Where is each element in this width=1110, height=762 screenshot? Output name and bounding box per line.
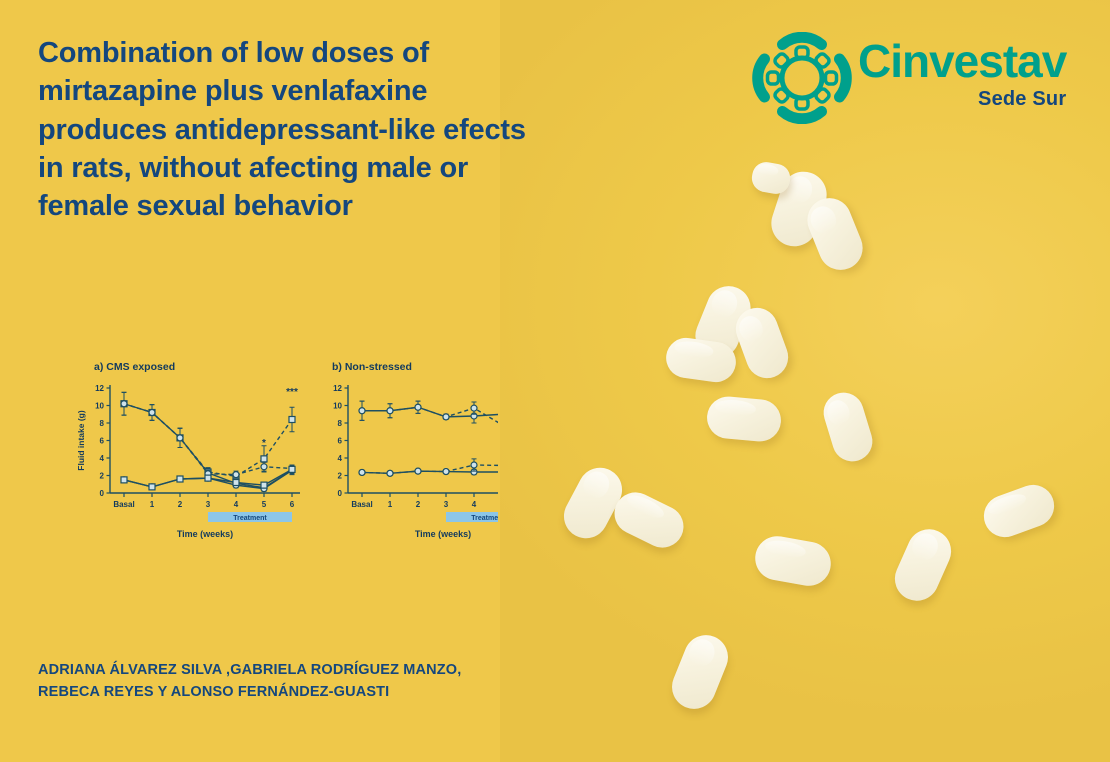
data-point [261, 464, 267, 470]
title-line-3: produces antidepressant-like efects [38, 111, 678, 149]
chart-label: 4 [100, 454, 105, 463]
data-point [261, 456, 267, 462]
chart-label: Treatment [471, 515, 498, 522]
chart-label: Basal [351, 500, 372, 509]
data-point [415, 404, 421, 410]
author-line-2: REBECA REYES Y ALONSO FERNÁNDEZ-GUASTI [38, 682, 578, 704]
page-title: Combination of low doses of mirtazapine … [38, 34, 678, 225]
chart-label: a) CMS exposed [94, 361, 175, 373]
chart-label: 6 [338, 437, 343, 446]
series-line [362, 471, 498, 473]
chart-label: 6 [100, 437, 105, 446]
title-line-1: Combination of low doses of [38, 34, 678, 72]
data-point [359, 469, 365, 475]
cinvestav-emblem-icon [752, 32, 852, 124]
title-line-4: in rats, without afecting male or [38, 149, 678, 187]
pill-tablet [978, 479, 1060, 543]
logo-subtitle: Sede Sur [858, 88, 1066, 111]
poster-canvas: Combination of low doses of mirtazapine … [0, 0, 1110, 762]
chart-label: *** [286, 387, 298, 398]
chart-label: 1 [150, 500, 155, 509]
chart-label: 2 [178, 500, 183, 509]
chart-label: 10 [95, 402, 104, 411]
data-point [177, 435, 183, 441]
chart-label: 8 [100, 419, 105, 428]
pill-tablet [665, 629, 734, 716]
title-line-5: female sexual behavior [38, 187, 678, 225]
chart-label: * [262, 438, 266, 449]
chart-label: 3 [444, 500, 449, 509]
chart-label: 6 [290, 500, 295, 509]
data-point [359, 408, 365, 414]
data-point [149, 410, 155, 416]
data-point [261, 482, 267, 488]
figure-svg: a) CMS exposed024681012Fluid intake (g)B… [48, 348, 498, 548]
logo-name: Cinvestav [858, 38, 1066, 84]
title-line-2: mirtazapine plus venlafaxine [38, 72, 678, 110]
chart-label: 8 [338, 419, 343, 428]
data-point [149, 484, 155, 490]
chart-panel-a: a) CMS exposed024681012Fluid intake (g)B… [76, 361, 300, 539]
chart-label: 4 [338, 454, 343, 463]
chart-label: 0 [100, 489, 105, 498]
chart-label: 2 [338, 472, 343, 481]
chart-label: 10 [333, 402, 342, 411]
chart-label: Basal [113, 500, 134, 509]
chart-label: Time (weeks) [177, 529, 233, 539]
data-point [205, 475, 211, 481]
data-point [121, 401, 127, 407]
data-point [289, 417, 295, 423]
chart-label: 5 [262, 500, 267, 509]
series-line [362, 407, 498, 417]
data-point [233, 472, 239, 478]
chart-label: 12 [95, 384, 104, 393]
data-point [443, 414, 449, 420]
data-point [471, 405, 477, 411]
data-point [289, 466, 295, 472]
chart-label: b) Non-stressed [332, 361, 412, 373]
author-line-1: ADRIANA ÁLVAREZ SILVA ,GABRIELA RODRÍGUE… [38, 660, 578, 682]
data-point [415, 468, 421, 474]
cinvestav-logo: Cinvestav Sede Sur [752, 32, 1066, 124]
chart-label: Fluid intake (g) [76, 410, 86, 471]
data-point [387, 470, 393, 476]
chart-label: Time (weeks) [415, 529, 471, 539]
chart-panel-b: b) Non-stressed024681012Basal123456Time … [332, 361, 498, 539]
data-point [387, 408, 393, 414]
figure-fluid-intake: a) CMS exposed024681012Fluid intake (g)B… [48, 348, 498, 548]
pill-tablet [752, 533, 834, 590]
chart-label: Treatment [233, 515, 267, 522]
chart-label: 12 [333, 384, 342, 393]
chart-label: 1 [388, 500, 393, 509]
data-point [443, 469, 449, 475]
logo-wordmark: Cinvestav Sede Sur [858, 38, 1066, 111]
chart-label: 4 [472, 500, 477, 509]
author-list: ADRIANA ÁLVAREZ SILVA ,GABRIELA RODRÍGUE… [38, 660, 578, 704]
chart-label: 2 [100, 472, 105, 481]
chart-label: 4 [234, 500, 239, 509]
pill-tablet [888, 522, 958, 607]
data-point [471, 462, 477, 468]
pill-tablet [819, 388, 878, 467]
chart-label: 0 [338, 489, 343, 498]
data-point [233, 480, 239, 486]
pill-tablet [705, 395, 782, 443]
data-point [177, 476, 183, 482]
chart-label: 2 [416, 500, 421, 509]
data-point [121, 477, 127, 483]
chart-label: 3 [206, 500, 211, 509]
